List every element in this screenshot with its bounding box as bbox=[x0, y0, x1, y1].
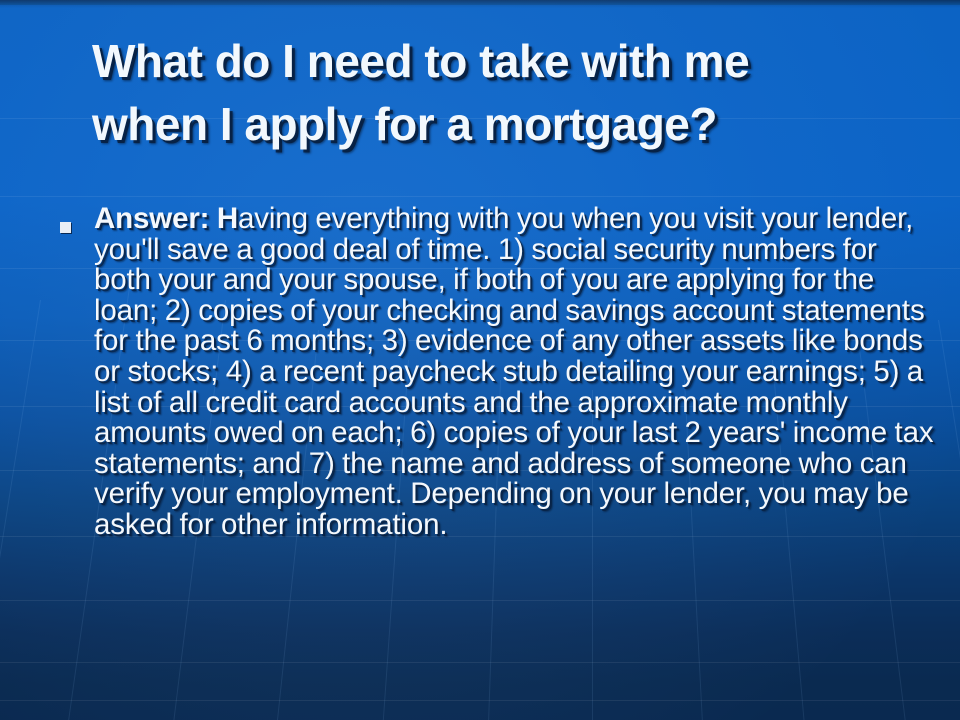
latitude-line bbox=[0, 700, 960, 701]
top-edge-band bbox=[0, 0, 960, 5]
answer-lead-label: Answer: H bbox=[94, 202, 238, 235]
answer-body-rest: aving everything with you when you visit… bbox=[94, 202, 933, 541]
slide-title: What do I need to take with me when I ap… bbox=[92, 30, 932, 156]
meridian-line bbox=[938, 320, 960, 720]
latitude-line bbox=[0, 600, 960, 601]
answer-bullet-item: Answer: Having everything with you when … bbox=[60, 204, 940, 541]
meridian-line bbox=[0, 300, 41, 720]
square-bullet-icon bbox=[60, 222, 71, 233]
latitude-line bbox=[0, 662, 960, 663]
presentation-slide: What do I need to take with me when I ap… bbox=[0, 0, 960, 720]
latitude-line bbox=[0, 196, 960, 197]
answer-body-text: Answer: Having everything with you when … bbox=[94, 204, 940, 541]
